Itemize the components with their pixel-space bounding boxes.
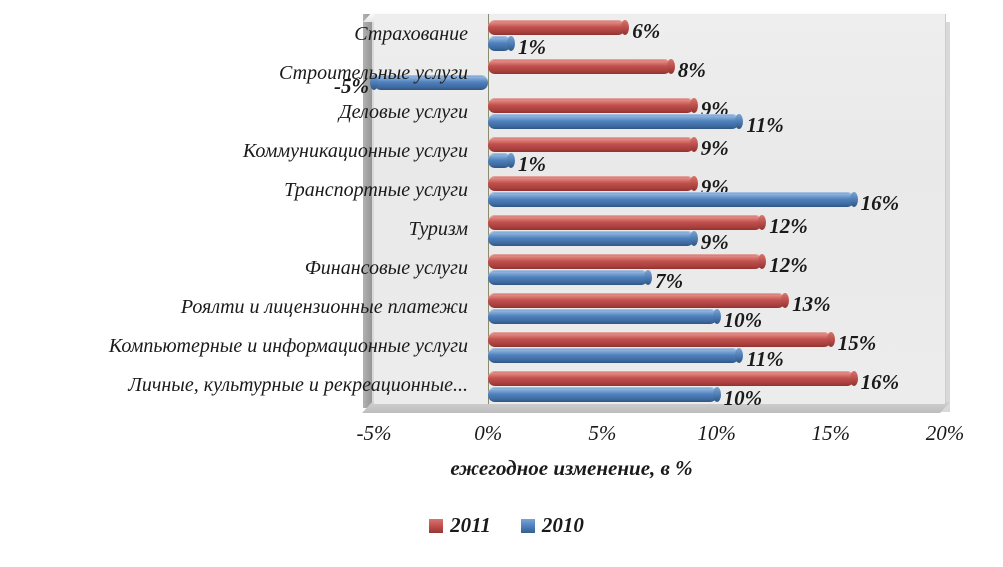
legend-item-2011[interactable]: 2011 — [429, 515, 491, 536]
data-label-2011-2: 8% — [678, 60, 706, 81]
bar-2011-9[interactable] — [488, 332, 831, 347]
bar-end-cap — [507, 153, 515, 168]
bar-2011-8[interactable] — [488, 293, 785, 308]
data-label-2011-4: 9% — [701, 138, 729, 159]
bar-end-cap — [621, 20, 629, 35]
bar-end-cap — [690, 137, 698, 152]
bar-2011-5[interactable] — [488, 176, 694, 191]
category-label-6: Туризм — [409, 219, 468, 239]
data-label-2011-1: 6% — [632, 21, 660, 42]
bar-end-cap — [690, 98, 698, 113]
x-tick--5%: -5% — [357, 421, 392, 446]
bar-2010-6[interactable] — [488, 231, 694, 246]
bar-2010-9[interactable] — [488, 348, 739, 363]
data-label-2011-6: 12% — [769, 216, 808, 237]
bar-end-cap — [690, 231, 698, 246]
bar-2010-3[interactable] — [488, 114, 739, 129]
bar-2011-7[interactable] — [488, 254, 762, 269]
bar-end-cap — [758, 254, 766, 269]
category-label-8: Роялти и лицензионные платежи — [181, 297, 468, 317]
category-label-2: Строительные услуги — [279, 63, 468, 83]
legend-item-2010[interactable]: 2010 — [521, 515, 584, 536]
bar-2010-5[interactable] — [488, 192, 853, 207]
chart-legend: 20112010 — [0, 515, 1003, 536]
bar-2011-4[interactable] — [488, 137, 694, 152]
data-label-2011-10: 16% — [861, 372, 900, 393]
bar-2011-1[interactable] — [488, 20, 625, 35]
bar-end-cap — [735, 114, 743, 129]
bar-end-cap — [667, 59, 675, 74]
bar-2010-8[interactable] — [488, 309, 716, 324]
bar-2010-7[interactable] — [488, 270, 648, 285]
bar-end-cap — [758, 215, 766, 230]
axis-title: ежегодное изменение, в % — [0, 456, 1003, 481]
category-label-1: Страхование — [354, 24, 468, 44]
category-axis-labels: СтрахованиеСтроительные услугиДеловые ус… — [0, 0, 474, 420]
category-label-7: Финансовые услуги — [305, 258, 468, 278]
bar-2011-6[interactable] — [488, 215, 762, 230]
bar-end-cap — [850, 192, 858, 207]
bar-2010-1[interactable] — [488, 36, 511, 51]
category-label-3: Деловые услуги — [339, 102, 468, 122]
bar-end-cap — [690, 176, 698, 191]
x-tick-0%: 0% — [474, 421, 502, 446]
category-label-5: Транспортные услуги — [284, 180, 468, 200]
data-label-2011-9: 15% — [838, 333, 877, 354]
data-label-2011-8: 13% — [792, 294, 831, 315]
x-tick-5%: 5% — [588, 421, 616, 446]
category-label-9: Компьютерные и информационные услуги — [109, 336, 468, 356]
bar-end-cap — [850, 371, 858, 386]
bar-2011-3[interactable] — [488, 98, 694, 113]
bar-end-cap — [644, 270, 652, 285]
bar-chart: 6%1%8%-5%9%11%9%1%9%16%12%9%12%7%13%10%1… — [0, 0, 1003, 567]
bar-end-cap — [827, 332, 835, 347]
legend-label-2010: 2010 — [542, 515, 584, 536]
bar-end-cap — [713, 309, 721, 324]
legend-label-2011: 2011 — [450, 515, 491, 536]
bar-end-cap — [507, 36, 515, 51]
bar-2011-10[interactable] — [488, 371, 853, 386]
x-tick-15%: 15% — [812, 421, 851, 446]
data-label-2011-7: 12% — [769, 255, 808, 276]
bar-2010-4[interactable] — [488, 153, 511, 168]
bar-end-cap — [781, 293, 789, 308]
bar-end-cap — [713, 387, 721, 402]
data-label-2010-10: 10% — [724, 388, 763, 409]
bar-end-cap — [735, 348, 743, 363]
bar-2011-2[interactable] — [488, 59, 671, 74]
category-label-4: Коммуникационные услуги — [243, 141, 468, 161]
x-tick-20%: 20% — [926, 421, 965, 446]
category-label-10: Личные, культурные и рекреационные... — [128, 375, 468, 395]
bar-2010-10[interactable] — [488, 387, 716, 402]
legend-swatch-2011 — [429, 519, 443, 533]
x-tick-10%: 10% — [697, 421, 736, 446]
legend-swatch-2010 — [521, 519, 535, 533]
